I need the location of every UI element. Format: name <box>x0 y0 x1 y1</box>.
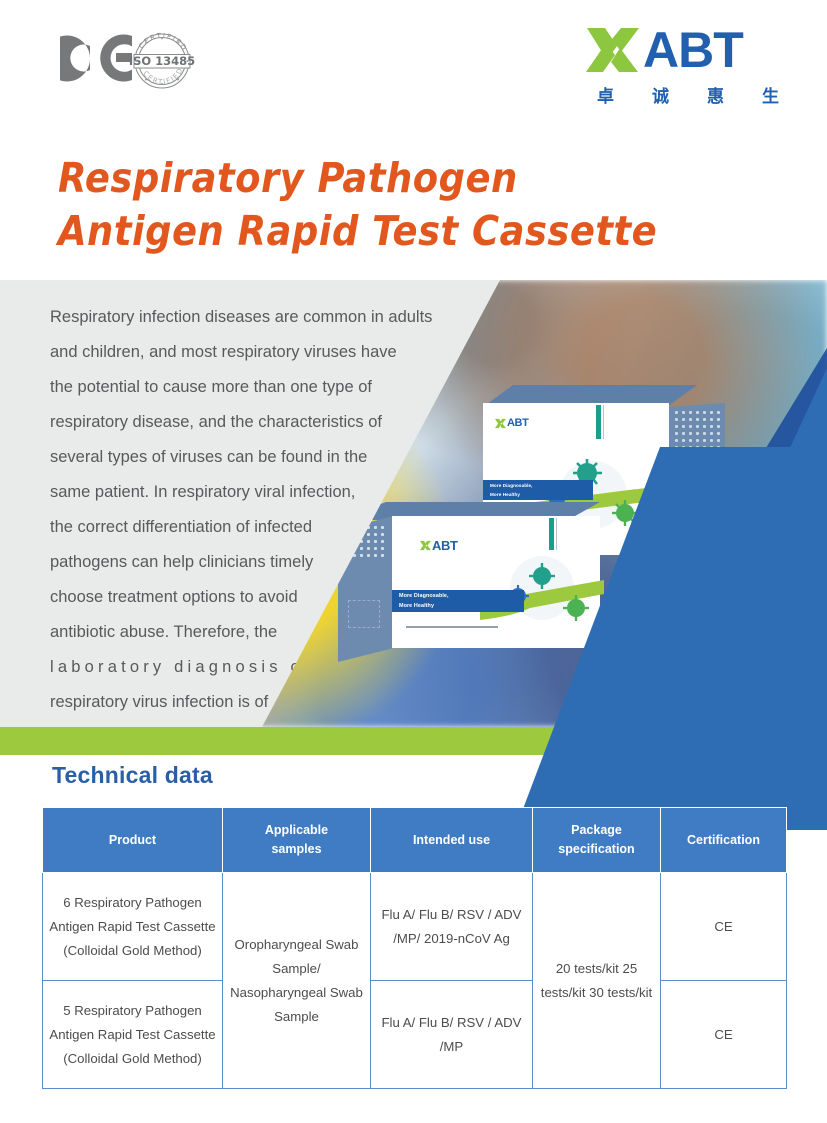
cell-applicable-samples: Oropharyngeal Swab Sample/ Nasopharyngea… <box>223 873 371 1089</box>
cn-char-4: 生 <box>762 82 779 107</box>
table-header-row: Product Applicable samples Intended use … <box>43 808 787 873</box>
abt-wordmark: ABT <box>643 24 743 76</box>
cell-intended-use: Flu A/ Flu B/ RSV / ADV /MP/ 2019-nCoV A… <box>371 873 533 981</box>
box-brand-logo: ABT <box>495 417 528 429</box>
technical-data-heading: Technical data <box>52 762 213 789</box>
abt-x-mark-icon <box>495 418 506 429</box>
box-brand-logo: ABT <box>420 538 458 553</box>
box-tagline-line-2: More Healthy <box>392 600 524 610</box>
table-row: 5 Respiratory Pathogen Antigen Rapid Tes… <box>43 981 787 1089</box>
cell-certification: CE <box>661 981 787 1089</box>
column-header-applicable-samples: Applicable samples <box>223 808 371 873</box>
abt-logo: ABT 卓 诚 惠 生 <box>585 22 785 110</box>
abt-chinese-name: 卓 诚 惠 生 <box>597 82 779 107</box>
iso-13485-badge-icon: ISO 13485 CERTIFIED CERTIFIED <box>126 30 198 92</box>
column-header-intended-use: Intended use <box>371 808 533 873</box>
box-brand-text: ABT <box>507 417 528 429</box>
svg-text:ISO 13485: ISO 13485 <box>129 54 195 68</box>
cn-char-3: 惠 <box>707 82 724 107</box>
box-brand-text: ABT <box>432 538 458 553</box>
box-tagline-line-2: More Healthy <box>483 489 593 498</box>
page-header: ISO 13485 CERTIFIED CERTIFIED <box>0 0 827 140</box>
title-line-2: Antigen Rapid Test Cassette <box>58 205 758 258</box>
intro-line: the potential to cause more than one typ… <box>50 370 450 405</box>
abt-x-mark-icon <box>420 539 431 552</box>
intro-line: respiratory disease, and the characteris… <box>50 405 450 440</box>
intro-line: Respiratory infection diseases are commo… <box>50 300 450 335</box>
page-title: Respiratory Pathogen Antigen Rapid Test … <box>58 152 758 258</box>
technical-data-table: Product Applicable samples Intended use … <box>42 807 787 1089</box>
green-divider-bar <box>0 727 827 755</box>
table-row: 6 Respiratory Pathogen Antigen Rapid Tes… <box>43 873 787 981</box>
cn-char-2: 诚 <box>652 82 669 107</box>
column-header-line: specification <box>537 840 656 859</box>
column-header-certification: Certification <box>661 808 787 873</box>
product-box-front: ABT <box>330 502 630 662</box>
column-header-package-specification: Package specification <box>533 808 661 873</box>
hero-section: ABT <box>0 280 827 727</box>
box-tagline-line-1: More Diagnosable, <box>483 480 593 489</box>
cn-char-1: 卓 <box>597 82 614 107</box>
column-header-line: samples <box>227 840 366 859</box>
svg-text:CERTIFIED: CERTIFIED <box>141 66 185 86</box>
column-header-product: Product <box>43 808 223 873</box>
column-header-line: Package <box>537 821 656 840</box>
column-header-line: Applicable <box>227 821 366 840</box>
box-tagline-band: More Diagnosable, More Healthy <box>392 590 524 612</box>
cell-product: 5 Respiratory Pathogen Antigen Rapid Tes… <box>43 981 223 1089</box>
svg-text:CERTIFIED: CERTIFIED <box>137 32 188 53</box>
title-line-1: Respiratory Pathogen <box>58 154 518 202</box>
box-tagline-band: More Diagnosable, More Healthy <box>483 480 593 500</box>
cell-certification: CE <box>661 873 787 981</box>
cell-package-specification: 20 tests/kit 25 tests/kit 30 tests/kit <box>533 873 661 1089</box>
box-tagline-line-1: More Diagnosable, <box>392 590 524 600</box>
intro-line: several types of viruses can be found in… <box>50 440 450 475</box>
intro-line: and children, and most respiratory virus… <box>50 335 450 370</box>
cell-intended-use: Flu A/ Flu B/ RSV / ADV /MP <box>371 981 533 1089</box>
product-flyer-page: ISO 13485 CERTIFIED CERTIFIED <box>0 0 827 1123</box>
abt-x-mark-icon <box>585 24 641 76</box>
cell-product: 6 Respiratory Pathogen Antigen Rapid Tes… <box>43 873 223 981</box>
